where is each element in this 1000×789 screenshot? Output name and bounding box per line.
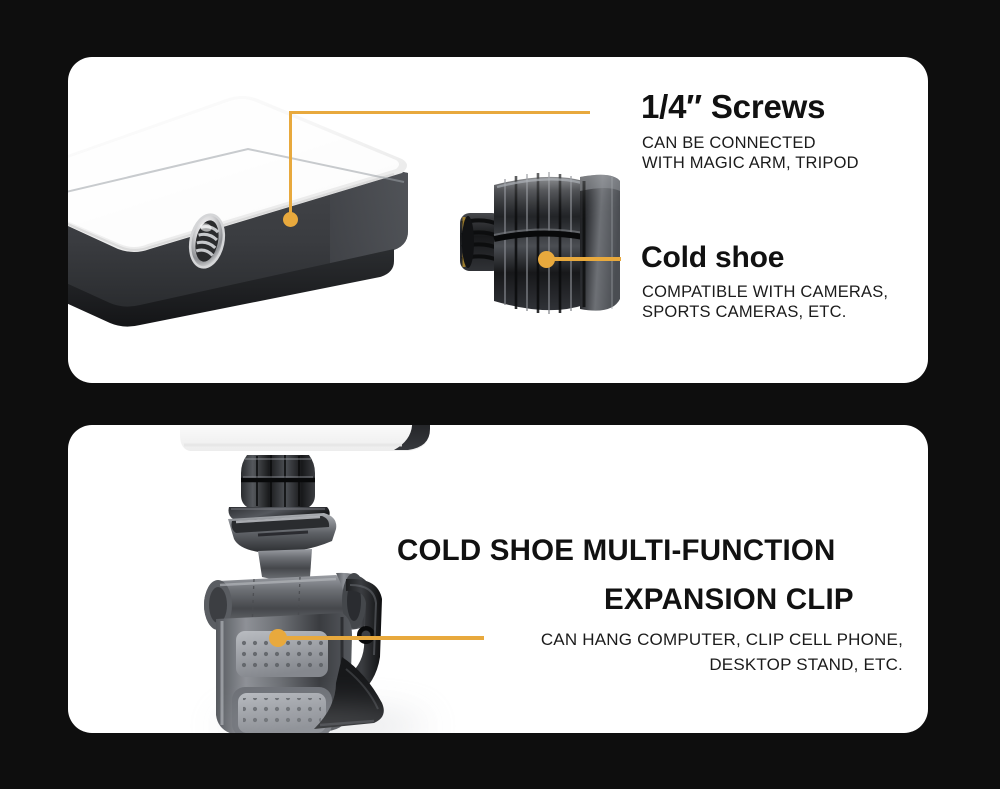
description-line: CAN BE CONNECTED <box>642 133 859 153</box>
heading-cold-shoe: Cold shoe <box>641 241 784 275</box>
cold-shoe-receiver <box>228 513 336 580</box>
heading-expansion-clip-line-1: COLD SHOE MULTI-FUNCTION <box>397 534 836 568</box>
description-line: WITH MAGIC ARM, TRIPOD <box>642 153 859 173</box>
callout-line-screws-horizontal <box>289 111 590 114</box>
callout-line-expansion-clip <box>281 636 484 640</box>
knurled-barrel <box>494 172 584 314</box>
callout-dot-cold-shoe <box>538 251 555 268</box>
heading-quarter-inch-screws: 1/4″ Screws <box>641 88 825 126</box>
description-line: DESKTOP STAND, ETC. <box>497 652 903 677</box>
description-line: COMPATIBLE WITH CAMERAS, <box>642 282 888 302</box>
callout-line-cold-shoe <box>548 257 621 261</box>
callout-dot-screws <box>283 212 298 227</box>
description-line: CAN HANG COMPUTER, CLIP CELL PHONE, <box>497 627 903 652</box>
callout-dot-expansion-clip <box>269 629 287 647</box>
cold-shoe-plate <box>580 175 620 311</box>
description-quarter-inch-screws: CAN BE CONNECTED WITH MAGIC ARM, TRIPOD <box>642 133 859 173</box>
description-cold-shoe: COMPATIBLE WITH CAMERAS, SPORTS CAMERAS,… <box>642 282 888 322</box>
heading-expansion-clip-line-2: EXPANSION CLIP <box>604 583 854 617</box>
description-line: SPORTS CAMERAS, ETC. <box>642 302 888 322</box>
led-light-panel-image <box>68 81 420 331</box>
description-expansion-clip: CAN HANG COMPUTER, CLIP CELL PHONE, DESK… <box>497 627 903 677</box>
infographic-canvas: 1/4″ Screws CAN BE CONNECTED WITH MAGIC … <box>0 0 1000 789</box>
callout-line-screws-vertical <box>289 113 292 218</box>
cold-shoe-adapter-image <box>398 147 628 337</box>
multi-function-clip-image <box>196 507 421 733</box>
panel-expansion-clip <box>68 425 928 733</box>
